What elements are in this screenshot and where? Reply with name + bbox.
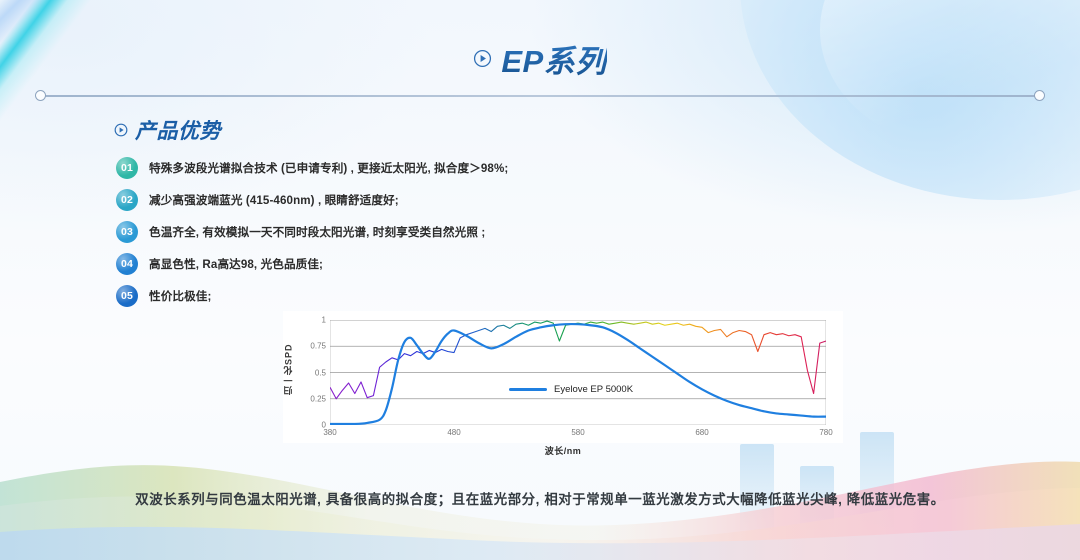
advantage-number-badge: 05 <box>116 285 138 307</box>
spectrum-chart: 归一化SPD 波长/nm 00.250.50.751 3804805806807… <box>283 311 843 443</box>
advantage-text: 减少高强波端蓝光 (415-460nm) , 眼睛舒适度好; <box>149 192 399 208</box>
advantage-item: 01特殊多波段光谱拟合技术 (已申请专利) , 更接近太阳光, 拟合度＞98%; <box>116 152 756 184</box>
chart-legend: Eyelove EP 5000K <box>509 384 633 395</box>
chart-x-tick-label: 780 <box>819 425 832 437</box>
chart-y-tick-label: 1 <box>322 316 330 325</box>
legend-swatch <box>509 388 547 391</box>
chart-y-tick-label: 0.25 <box>310 394 330 403</box>
divider-right-dot <box>1034 90 1045 101</box>
chart-y-tick-label: 0.5 <box>315 368 330 377</box>
decorative-blue-glow-icon <box>740 0 1080 200</box>
section-heading: 产品优势 <box>114 115 221 145</box>
advantage-item: 04高显色性, Ra高达98, 光色品质佳; <box>116 248 756 280</box>
advantage-text: 色温齐全, 有效模拟一天不同时段太阳光谱, 时刻享受类自然光照 ; <box>149 224 485 240</box>
play-circle-icon <box>473 49 492 68</box>
chart-x-tick-label: 580 <box>571 425 584 437</box>
chart-x-tick-label: 480 <box>447 425 460 437</box>
legend-label: Eyelove EP 5000K <box>554 384 633 395</box>
section-heading-text: 产品优势 <box>135 115 221 145</box>
advantage-text: 高显色性, Ra高达98, 光色品质佳; <box>149 256 323 272</box>
slide-root: EP系列 产品优势 01特殊多波段光谱拟合技术 (已申请专利) , 更接近太阳光… <box>0 0 1080 560</box>
chart-y-tick-label: 0.75 <box>310 342 330 351</box>
header-divider <box>40 95 1040 97</box>
advantage-item: 02减少高强波端蓝光 (415-460nm) , 眼睛舒适度好; <box>116 184 756 216</box>
advantage-number-badge: 03 <box>116 221 138 243</box>
advantage-number-badge: 02 <box>116 189 138 211</box>
divider-left-dot <box>35 90 46 101</box>
page-title-text: EP系列 <box>501 36 606 81</box>
advantage-text: 性价比极佳; <box>149 288 211 304</box>
advantages-list: 01特殊多波段光谱拟合技术 (已申请专利) , 更接近太阳光, 拟合度＞98%;… <box>116 152 756 312</box>
advantage-text: 特殊多波段光谱拟合技术 (已申请专利) , 更接近太阳光, 拟合度＞98%; <box>149 160 508 176</box>
bottom-caption: 双波长系列与同色温太阳光谱, 具备很高的拟合度；且在蓝光部分, 相对于常规单一蓝… <box>0 488 1080 508</box>
chart-y-axis-label: 归一化SPD <box>281 327 295 411</box>
advantage-number-badge: 04 <box>116 253 138 275</box>
advantage-item: 03色温齐全, 有效模拟一天不同时段太阳光谱, 时刻享受类自然光照 ; <box>116 216 756 248</box>
chart-x-tick-label: 680 <box>695 425 708 437</box>
title-row: EP系列 <box>0 36 1080 81</box>
advantage-number-badge: 01 <box>116 157 138 179</box>
play-circle-icon <box>114 123 128 137</box>
chart-plot-area <box>330 320 826 425</box>
advantage-item: 05性价比极佳; <box>116 280 756 312</box>
page-title: EP系列 <box>473 36 606 81</box>
chart-x-axis-label: 波长/nm <box>283 444 843 457</box>
chart-x-tick-label: 380 <box>323 425 336 437</box>
